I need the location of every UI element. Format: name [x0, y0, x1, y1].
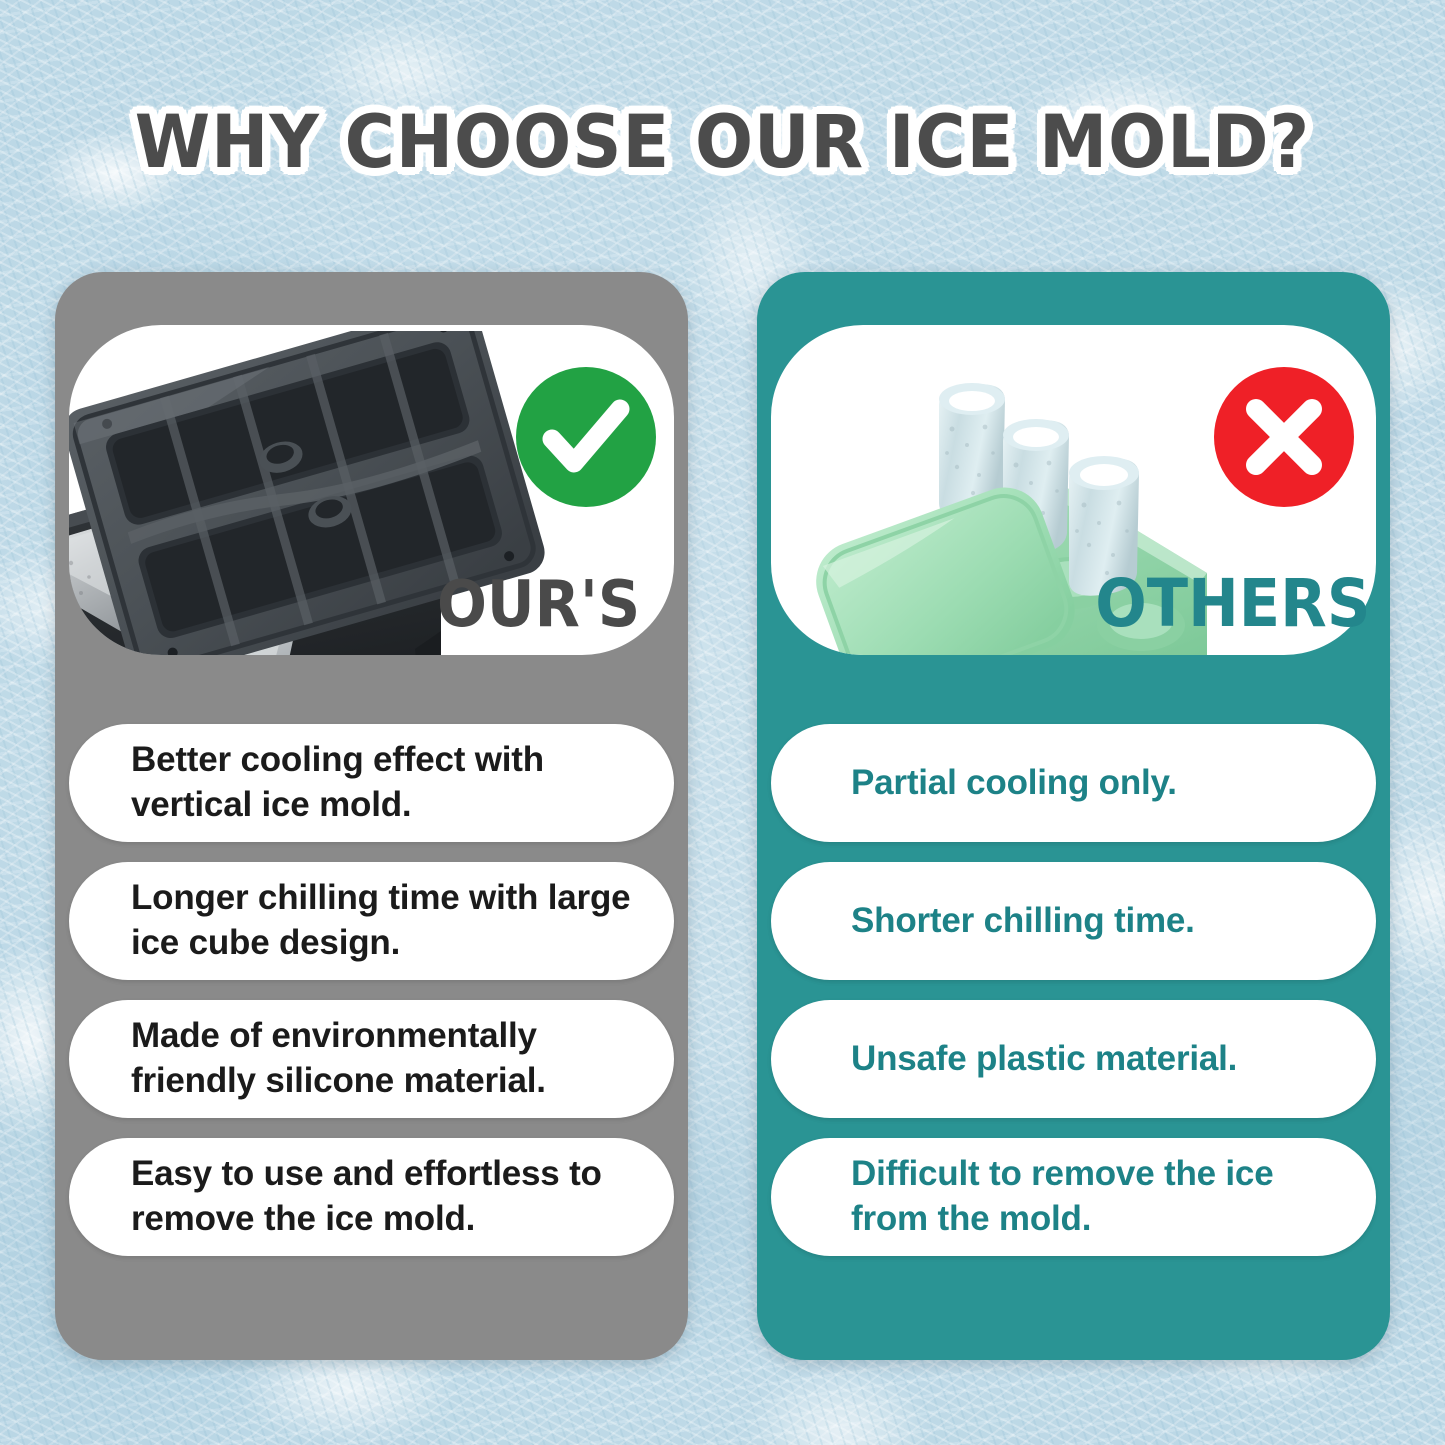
feature-item: Unsafe plastic material. — [771, 1000, 1376, 1118]
feature-item: Easy to use and effortless to remove the… — [69, 1138, 674, 1256]
feature-text: Partial cooling only. — [851, 761, 1177, 806]
feature-item: Shorter chilling time. — [771, 862, 1376, 980]
check-icon — [516, 367, 656, 507]
feature-item: Difficult to remove the ice from the mol… — [771, 1138, 1376, 1256]
feature-text: Better cooling effect with vertical ice … — [131, 738, 648, 828]
feature-item: Longer chilling time with large ice cube… — [69, 862, 674, 980]
page-title: WHY CHOOSE OUR ICE MOLD? — [0, 106, 1445, 179]
infographic-root: WHY CHOOSE OUR ICE MOLD? — [0, 0, 1445, 1445]
feature-text: Made of environmentally friendly silicon… — [131, 1014, 648, 1104]
comparison-card-others: OTHERS Partial cooling only. Shorter chi… — [757, 272, 1390, 1360]
feature-list-ours: Better cooling effect with vertical ice … — [69, 724, 674, 1276]
feature-text: Easy to use and effortless to remove the… — [131, 1152, 648, 1242]
column-label-ours: OUR'S — [437, 573, 640, 637]
feature-item: Partial cooling only. — [771, 724, 1376, 842]
feature-text: Longer chilling time with large ice cube… — [131, 876, 648, 966]
column-label-others: OTHERS — [1096, 571, 1371, 637]
hero-panel-others: OTHERS — [771, 325, 1376, 655]
feature-item: Made of environmentally friendly silicon… — [69, 1000, 674, 1118]
check-badge — [516, 367, 656, 507]
feature-item: Better cooling effect with vertical ice … — [69, 724, 674, 842]
feature-text: Shorter chilling time. — [851, 899, 1195, 944]
feature-text: Difficult to remove the ice from the mol… — [851, 1152, 1350, 1242]
comparison-card-ours: OUR'S Better cooling effect with vertica… — [55, 272, 688, 1360]
feature-text: Unsafe plastic material. — [851, 1037, 1237, 1082]
hero-panel-ours: OUR'S — [69, 325, 674, 655]
cross-icon — [1214, 367, 1354, 507]
cross-badge — [1214, 367, 1354, 507]
feature-list-others: Partial cooling only. Shorter chilling t… — [771, 724, 1376, 1276]
